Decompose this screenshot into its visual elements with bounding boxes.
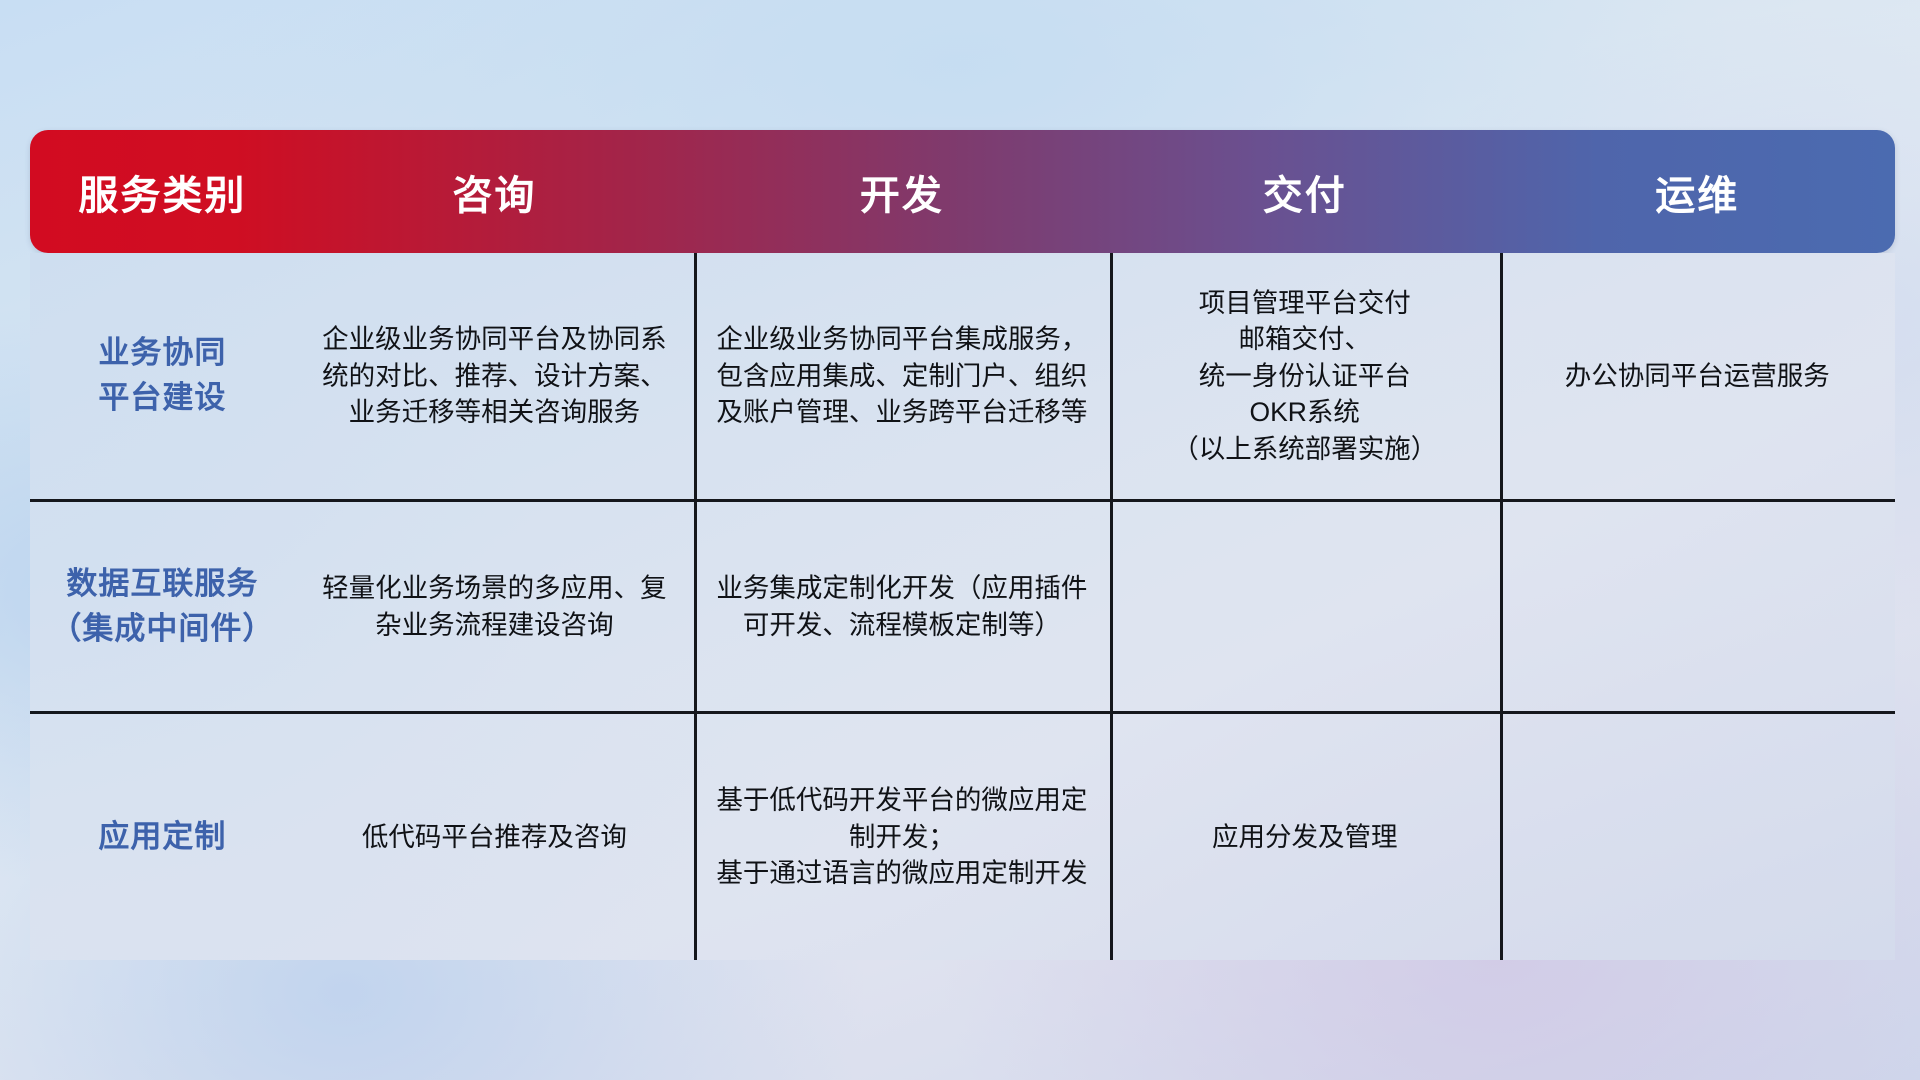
cell-r2-consulting: 轻量化业务场景的多应用、复 杂业务流程建设咨询 <box>295 502 694 711</box>
cell-r1-consulting: 企业级业务协同平台及协同系 统的对比、推荐、设计方案、 业务迁移等相关咨询服务 <box>295 253 694 499</box>
table-header-development: 开发 <box>694 163 1110 221</box>
table-body: 业务协同 平台建设 企业级业务协同平台及协同系 统的对比、推荐、设计方案、 业务… <box>30 253 1895 960</box>
table-header-service-category: 服务类别 <box>30 163 295 221</box>
table-header-delivery: 交付 <box>1110 163 1500 221</box>
cell-r3-operations <box>1500 714 1895 960</box>
cell-r2-operations <box>1500 502 1895 711</box>
grid-line-vertical-1 <box>694 253 697 960</box>
cell-r3-development: 基于低代码开发平台的微应用定 制开发； 基于通过语言的微应用定制开发 <box>694 714 1110 960</box>
cell-r2-delivery <box>1110 502 1500 711</box>
row-label-business-collaboration: 业务协同 平台建设 <box>30 253 295 499</box>
grid-line-vertical-3 <box>1500 253 1503 960</box>
table-row: 业务协同 平台建设 企业级业务协同平台及协同系 统的对比、推荐、设计方案、 业务… <box>30 253 1895 502</box>
table-header-consulting: 咨询 <box>295 163 694 221</box>
table-row: 数据互联服务 （集成中间件） 轻量化业务场景的多应用、复 杂业务流程建设咨询 业… <box>30 502 1895 714</box>
cell-r1-development: 企业级业务协同平台集成服务， 包含应用集成、定制门户、组织 及账户管理、业务跨平… <box>694 253 1110 499</box>
grid-line-vertical-2 <box>1110 253 1113 960</box>
cell-r3-consulting: 低代码平台推荐及咨询 <box>295 714 694 960</box>
table-header-row: 服务类别 咨询 开发 交付 运维 <box>30 130 1895 253</box>
table-row: 应用定制 低代码平台推荐及咨询 基于低代码开发平台的微应用定 制开发； 基于通过… <box>30 714 1895 960</box>
cell-r3-delivery: 应用分发及管理 <box>1110 714 1500 960</box>
table-header-operations: 运维 <box>1500 163 1895 221</box>
row-label-data-interconnect: 数据互联服务 （集成中间件） <box>30 502 295 711</box>
row-label-application-customization: 应用定制 <box>30 714 295 960</box>
cell-r1-delivery: 项目管理平台交付 邮箱交付、 统一身份认证平台 OKR系统 （以上系统部署实施） <box>1110 253 1500 499</box>
cell-r1-operations: 办公协同平台运营服务 <box>1500 253 1895 499</box>
cell-r2-development: 业务集成定制化开发（应用插件 可开发、流程模板定制等） <box>694 502 1110 711</box>
service-matrix-table: 服务类别 咨询 开发 交付 运维 业务协同 平台建设 企业级业务协同平台及协同系… <box>30 130 1895 960</box>
